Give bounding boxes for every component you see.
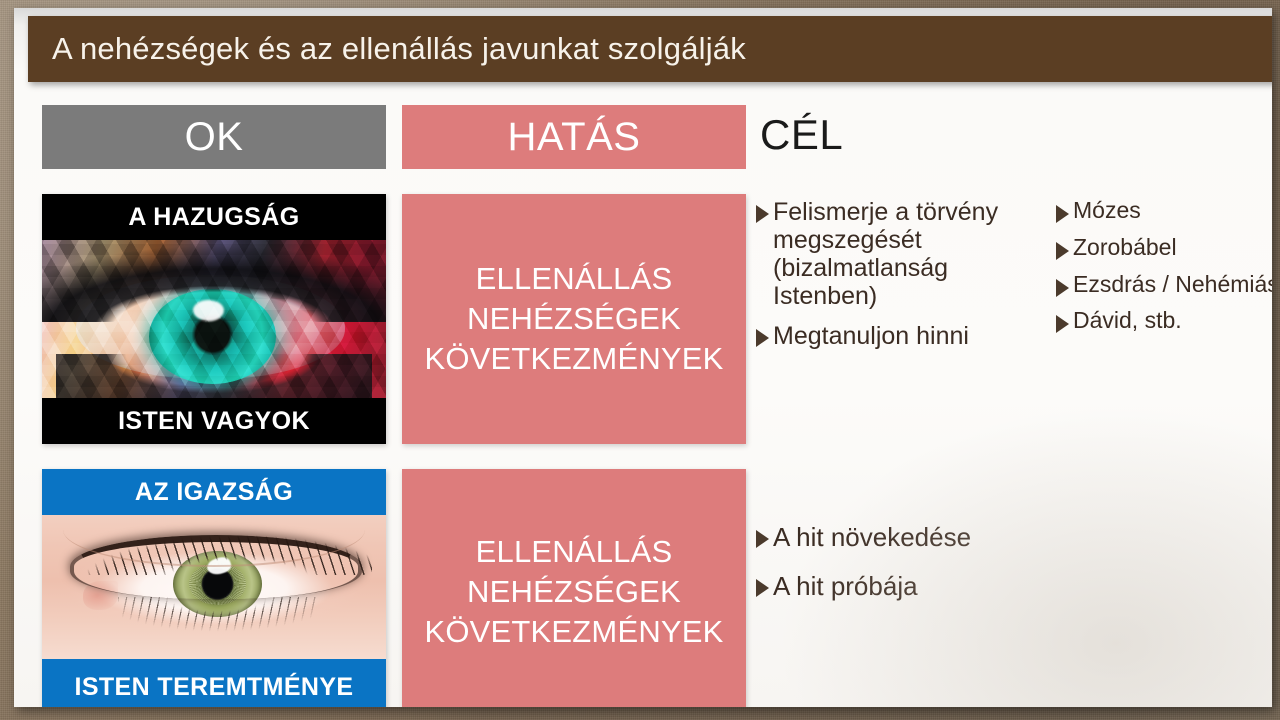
triangle-bullet-icon	[756, 579, 769, 597]
hatas-line: NEHÉZSÉGEK	[467, 572, 681, 612]
list-item-label: Mózes	[1073, 198, 1141, 224]
triangle-bullet-icon	[1056, 279, 1069, 297]
column-header-ok-label: OK	[185, 117, 244, 157]
column-header-ok: OK	[42, 105, 386, 169]
list-item-label: Zorobábel	[1073, 235, 1177, 261]
list-item-label: A hit növekedése	[773, 523, 971, 552]
slide-canvas: A nehézségek és az ellenállás javunkat s…	[14, 8, 1272, 707]
hatas-line: KÖVETKEZMÉNYEK	[424, 612, 723, 652]
list-item: Megtanuljon hinni	[756, 322, 1056, 350]
list-item-label: A hit próbája	[773, 572, 918, 601]
triangle-bullet-icon	[756, 530, 769, 548]
ok-card-truth: AZ IGAZSÁG ISTEN TEREMTMÉNYE	[42, 469, 386, 707]
triangle-bullet-icon	[756, 205, 769, 223]
triangle-bullet-icon	[1056, 205, 1069, 223]
cel-row-2: A hit növekedése A hit próbája	[756, 523, 1272, 621]
ok-card-lie-top-caption: A HAZUGSÁG	[42, 194, 386, 240]
list-item: A hit próbája	[756, 572, 1176, 601]
list-item-label: Megtanuljon hinni	[773, 322, 969, 350]
cel-row-1: Felismerje a törvény megszegését (bizalm…	[756, 198, 1272, 362]
list-item: Mózes	[1056, 198, 1272, 224]
hatas-box-row-2: ELLENÁLLÁS NEHÉZSÉGEK KÖVETKEZMÉNYEK	[402, 469, 746, 707]
ok-card-truth-top-caption: AZ IGAZSÁG	[42, 469, 386, 515]
list-item: Zorobábel	[1056, 235, 1272, 261]
cel-bullet-group-faith: A hit növekedése A hit próbája	[756, 523, 1176, 621]
hatas-line: ELLENÁLLÁS	[476, 259, 673, 299]
cel-bullet-group-primary: Felismerje a törvény megszegését (bizalm…	[756, 198, 1056, 362]
lowpoly-colorful-eye-image	[42, 240, 386, 398]
hatas-line: ELLENÁLLÁS	[476, 532, 673, 572]
hatas-line: NEHÉZSÉGEK	[467, 299, 681, 339]
realistic-green-eye-image	[42, 515, 386, 659]
lowpoly-eye-facets	[42, 240, 386, 398]
list-item: Dávid, stb.	[1056, 308, 1272, 334]
ok-card-truth-bottom-caption: ISTEN TEREMTMÉNYE	[42, 659, 386, 707]
ok-card-lie: A HAZUGSÁG ISTEN VAGYOK	[42, 194, 386, 444]
lowpoly-eye-art	[42, 240, 386, 398]
list-item-label: Felismerje a törvény megszegését (bizalm…	[773, 198, 1056, 310]
real-eye-lower-lashes	[118, 597, 318, 640]
ok-card-lie-bottom-caption: ISTEN VAGYOK	[42, 398, 386, 444]
hatas-box-row-1: ELLENÁLLÁS NEHÉZSÉGEK KÖVETKEZMÉNYEK	[402, 194, 746, 444]
slide-title: A nehézségek és az ellenállás javunkat s…	[28, 31, 746, 67]
list-item-label: Ezsdrás / Nehémiás	[1073, 272, 1272, 298]
column-header-hatas-label: HATÁS	[508, 117, 641, 157]
triangle-bullet-icon	[756, 329, 769, 347]
real-eye-art	[42, 515, 386, 659]
list-item: Ezsdrás / Nehémiás	[1056, 272, 1272, 298]
list-item-label: Dávid, stb.	[1073, 308, 1182, 334]
column-header-cel: CÉL	[760, 101, 1060, 169]
hatas-line: KÖVETKEZMÉNYEK	[424, 339, 723, 379]
triangle-bullet-icon	[1056, 242, 1069, 260]
slide-title-bar: A nehézségek és az ellenállás javunkat s…	[28, 16, 1272, 82]
slide-background: A nehézségek és az ellenállás javunkat s…	[0, 0, 1280, 720]
cel-bullet-group-names: Mózes Zorobábel Ezsdrás / Nehémiás Dávid…	[1056, 198, 1272, 362]
column-header-hatas: HATÁS	[402, 105, 746, 169]
list-item: Felismerje a törvény megszegését (bizalm…	[756, 198, 1056, 310]
list-item: A hit növekedése	[756, 523, 1176, 552]
column-header-cel-label: CÉL	[760, 114, 843, 156]
triangle-bullet-icon	[1056, 315, 1069, 333]
